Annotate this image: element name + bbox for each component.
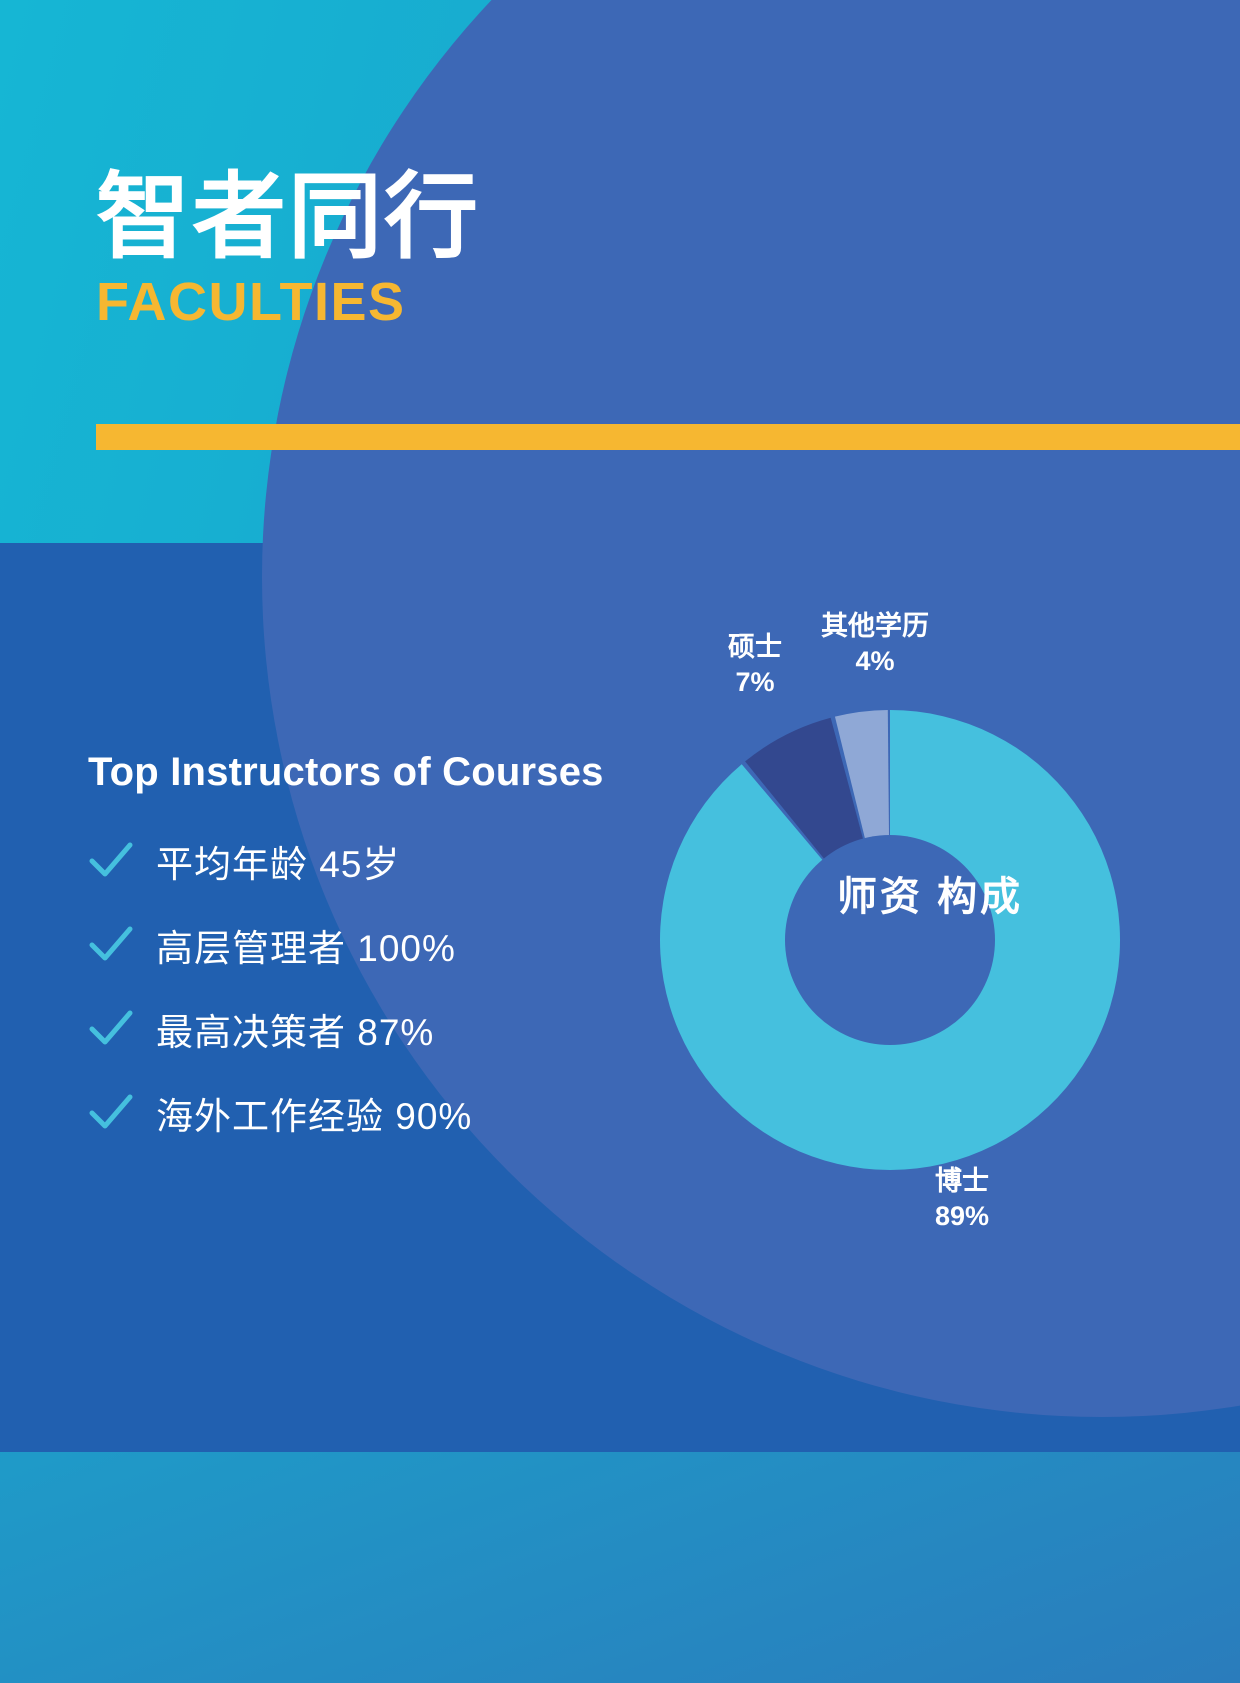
donut-svg: [660, 710, 1120, 1170]
check-icon: [88, 922, 134, 968]
list-item-label: 最高决策者 87%: [156, 1002, 434, 1056]
center-label-line1: 师资: [837, 875, 923, 919]
check-icon: [88, 1006, 134, 1052]
donut-center-hole: [785, 835, 995, 1045]
slide-canvas: 智者同行 FACULTIES Top Instructors of Course…: [0, 0, 1240, 1683]
check-icon: [88, 1090, 134, 1136]
accent-rule-bar: [96, 424, 1240, 450]
slice-label-value: 89%: [892, 1199, 1032, 1234]
center-label-line2: 构成: [937, 875, 1023, 919]
list-item: 最高决策者 87%: [88, 1003, 688, 1055]
slice-label-name: 博士: [892, 1164, 1032, 1199]
panel-heading: Top Instructors of Courses: [88, 750, 688, 795]
page-title-en: FACULTIES: [96, 273, 480, 332]
check-icon: [88, 838, 134, 884]
slice-label-other: 其他学历 4%: [796, 609, 954, 678]
page-title-cn: 智者同行: [96, 168, 480, 267]
left-content-panel: Top Instructors of Courses 平均年龄 45岁 高层管理…: [88, 750, 688, 1171]
list-item-label: 平均年龄 45岁: [156, 834, 400, 888]
faculty-composition-donut-chart: 师资 构成 硕士 7% 其他学历 4% 博士 89%: [620, 600, 1160, 1300]
donut-center-label: 师资 构成: [820, 872, 1040, 923]
list-item: 海外工作经验 90%: [88, 1087, 688, 1139]
instructor-stats-list: 平均年龄 45岁 高层管理者 100% 最高决策者 87%: [88, 835, 688, 1139]
list-item-label: 高层管理者 100%: [156, 918, 456, 972]
list-item: 平均年龄 45岁: [88, 835, 688, 887]
list-item-label: 海外工作经验 90%: [156, 1086, 472, 1140]
header: 智者同行 FACULTIES: [96, 168, 480, 332]
slice-label-name: 其他学历: [796, 609, 954, 644]
list-item: 高层管理者 100%: [88, 919, 688, 971]
slice-label-doctor: 博士 89%: [892, 1164, 1032, 1233]
slice-label-value: 4%: [796, 644, 954, 679]
